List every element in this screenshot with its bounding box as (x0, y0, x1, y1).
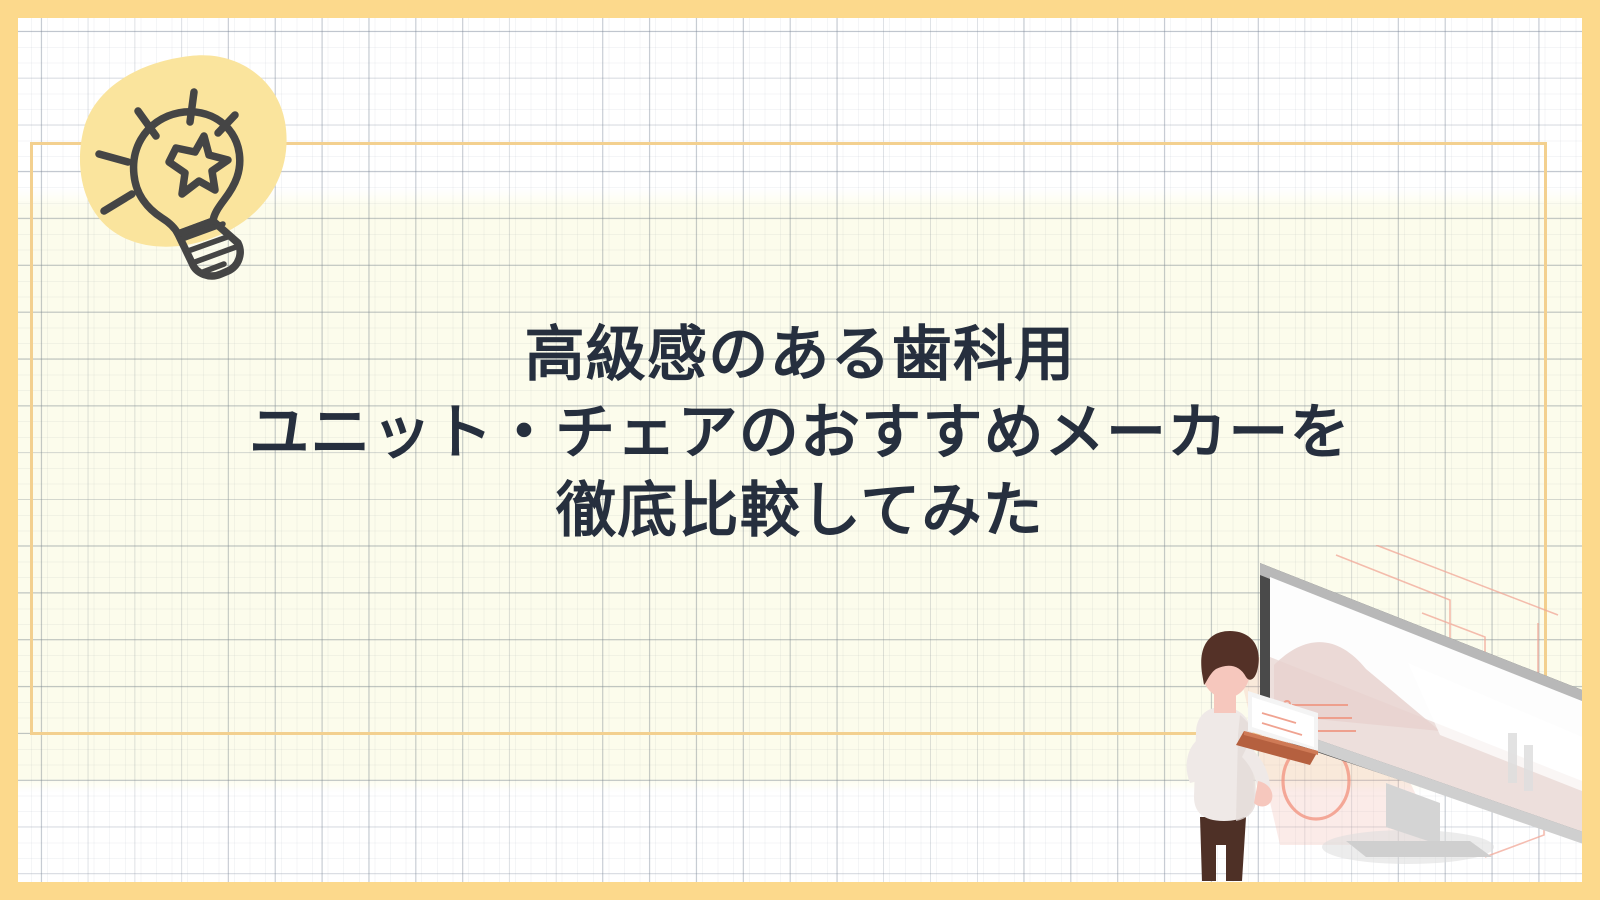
banner-canvas: 高級感のある歯科用 ユニット・チェアのおすすめメーカーを 徹底比較してみた (0, 0, 1600, 900)
lightbulb-star-icon (72, 48, 302, 280)
person-with-laptop-and-monitor-illustration (1140, 545, 1600, 890)
title-line-3: 徹底比較してみた (60, 472, 1540, 550)
border-band-top (0, 0, 1600, 18)
border-band-bottom (0, 882, 1600, 900)
title-line-2: ユニット・チェアのおすすめメーカーを (60, 394, 1540, 472)
page-title: 高級感のある歯科用 ユニット・チェアのおすすめメーカーを 徹底比較してみた (60, 316, 1540, 550)
border-band-right (1582, 0, 1600, 900)
border-band-left (0, 0, 18, 900)
person-pants (1200, 817, 1246, 881)
title-line-1: 高級感のある歯科用 (60, 316, 1540, 394)
